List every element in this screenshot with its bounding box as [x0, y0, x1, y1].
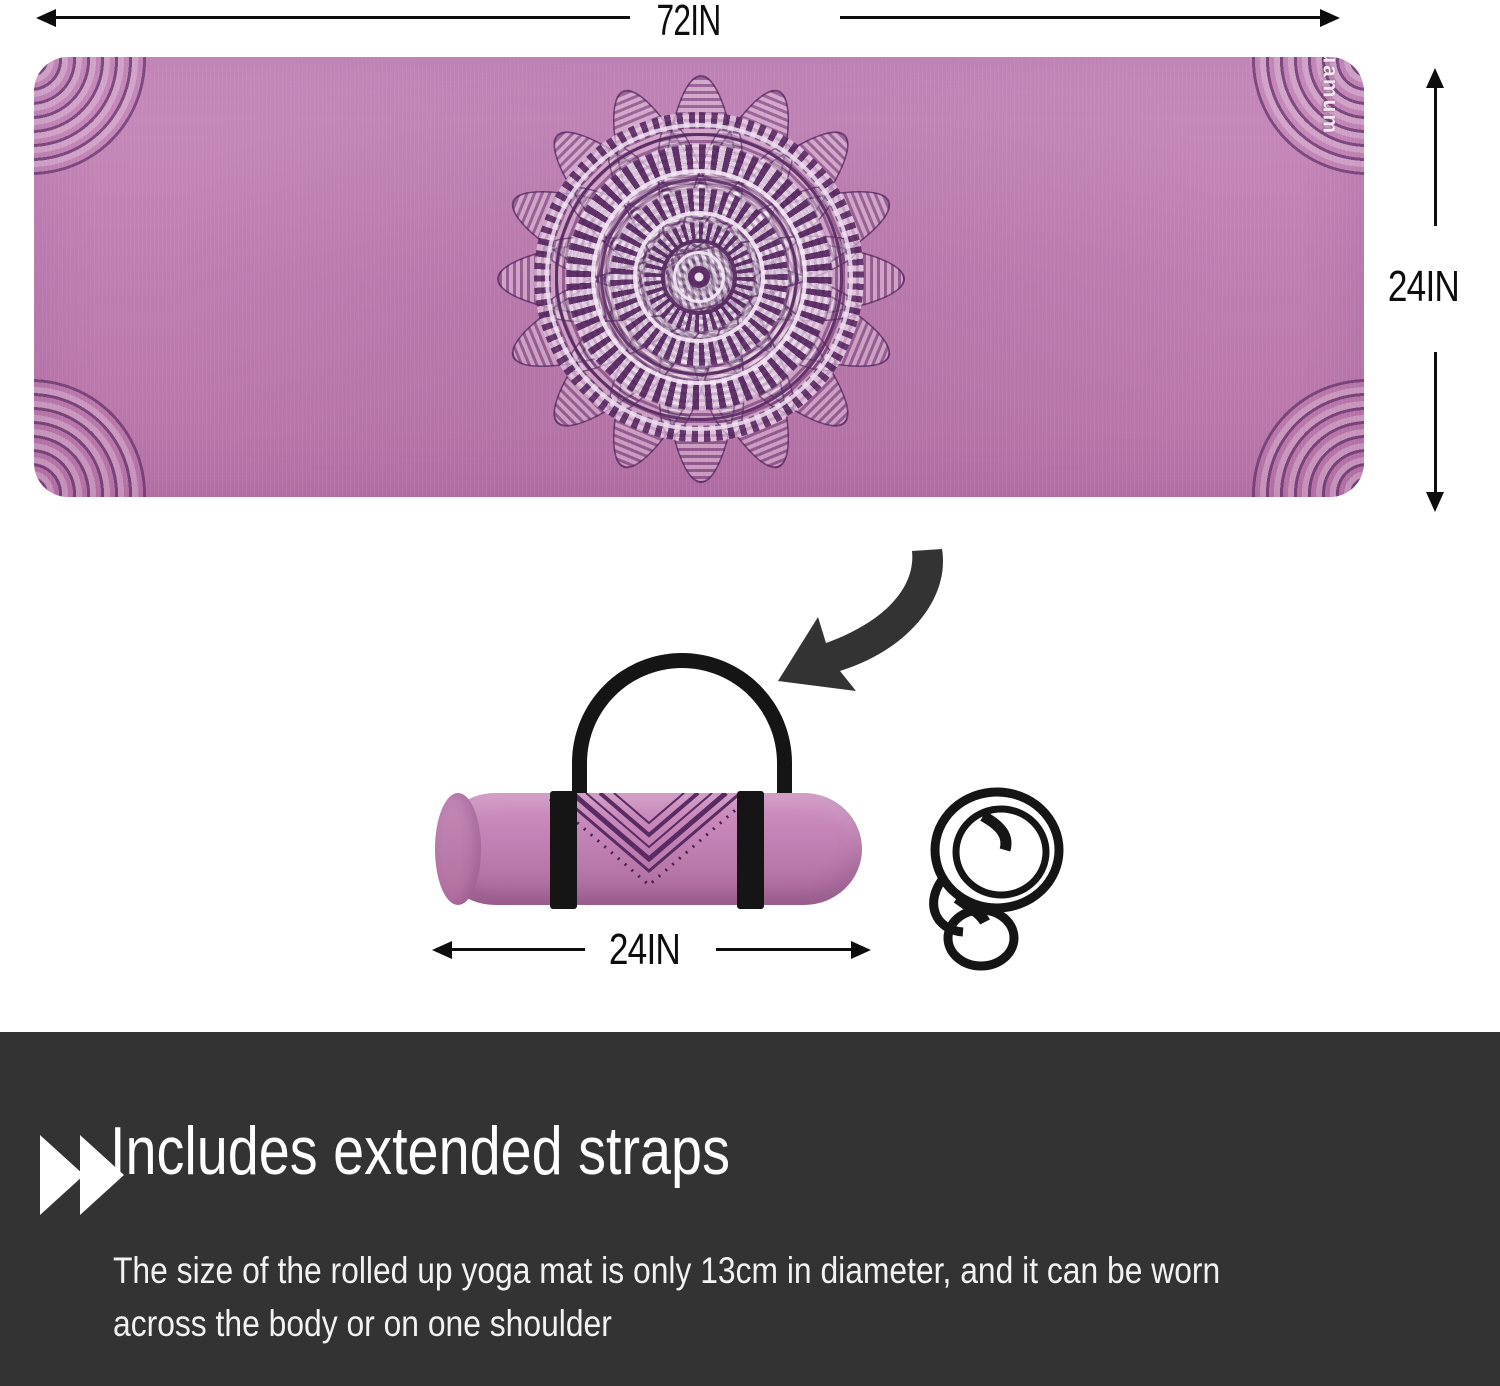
arrow-head-up-icon [1426, 68, 1444, 88]
dimension-label-width: 24IN [1388, 262, 1459, 312]
dimension-label-length: 72IN [656, 0, 720, 46]
yoga-mat-flat-image: uamum [34, 57, 1364, 497]
dimension-label-rolled: 24IN [609, 925, 680, 975]
dimension-line-top [1434, 86, 1437, 226]
dimension-line-roll-right [716, 948, 851, 951]
arrow-head-left-icon-2 [432, 941, 452, 959]
arrow-head-left-icon [36, 9, 56, 27]
dimension-line-right [840, 16, 1320, 19]
feature-title: Includes extended straps [110, 1112, 730, 1190]
arrow-head-down-icon [1426, 492, 1444, 512]
arrow-head-right-icon-2 [851, 941, 871, 959]
rolled-mat-end-cap [435, 793, 481, 905]
infographic-canvas: 72IN [0, 0, 1500, 1386]
curved-arrow-icon [760, 545, 970, 695]
brand-logo: uamum [1318, 57, 1342, 135]
dimension-line-roll-left [450, 948, 585, 951]
feature-description: The size of the rolled up yoga mat is on… [113, 1245, 1317, 1350]
strap-right [737, 791, 764, 909]
coiled-strap-icon [905, 780, 1085, 975]
mandala-pattern [284, 57, 1114, 497]
arrow-head-right-icon [1320, 9, 1340, 27]
dimension-line-left [55, 16, 630, 19]
dimension-line-bottom [1434, 352, 1437, 492]
yoga-mat-rolled-image [437, 793, 862, 905]
strap-left [550, 791, 577, 909]
